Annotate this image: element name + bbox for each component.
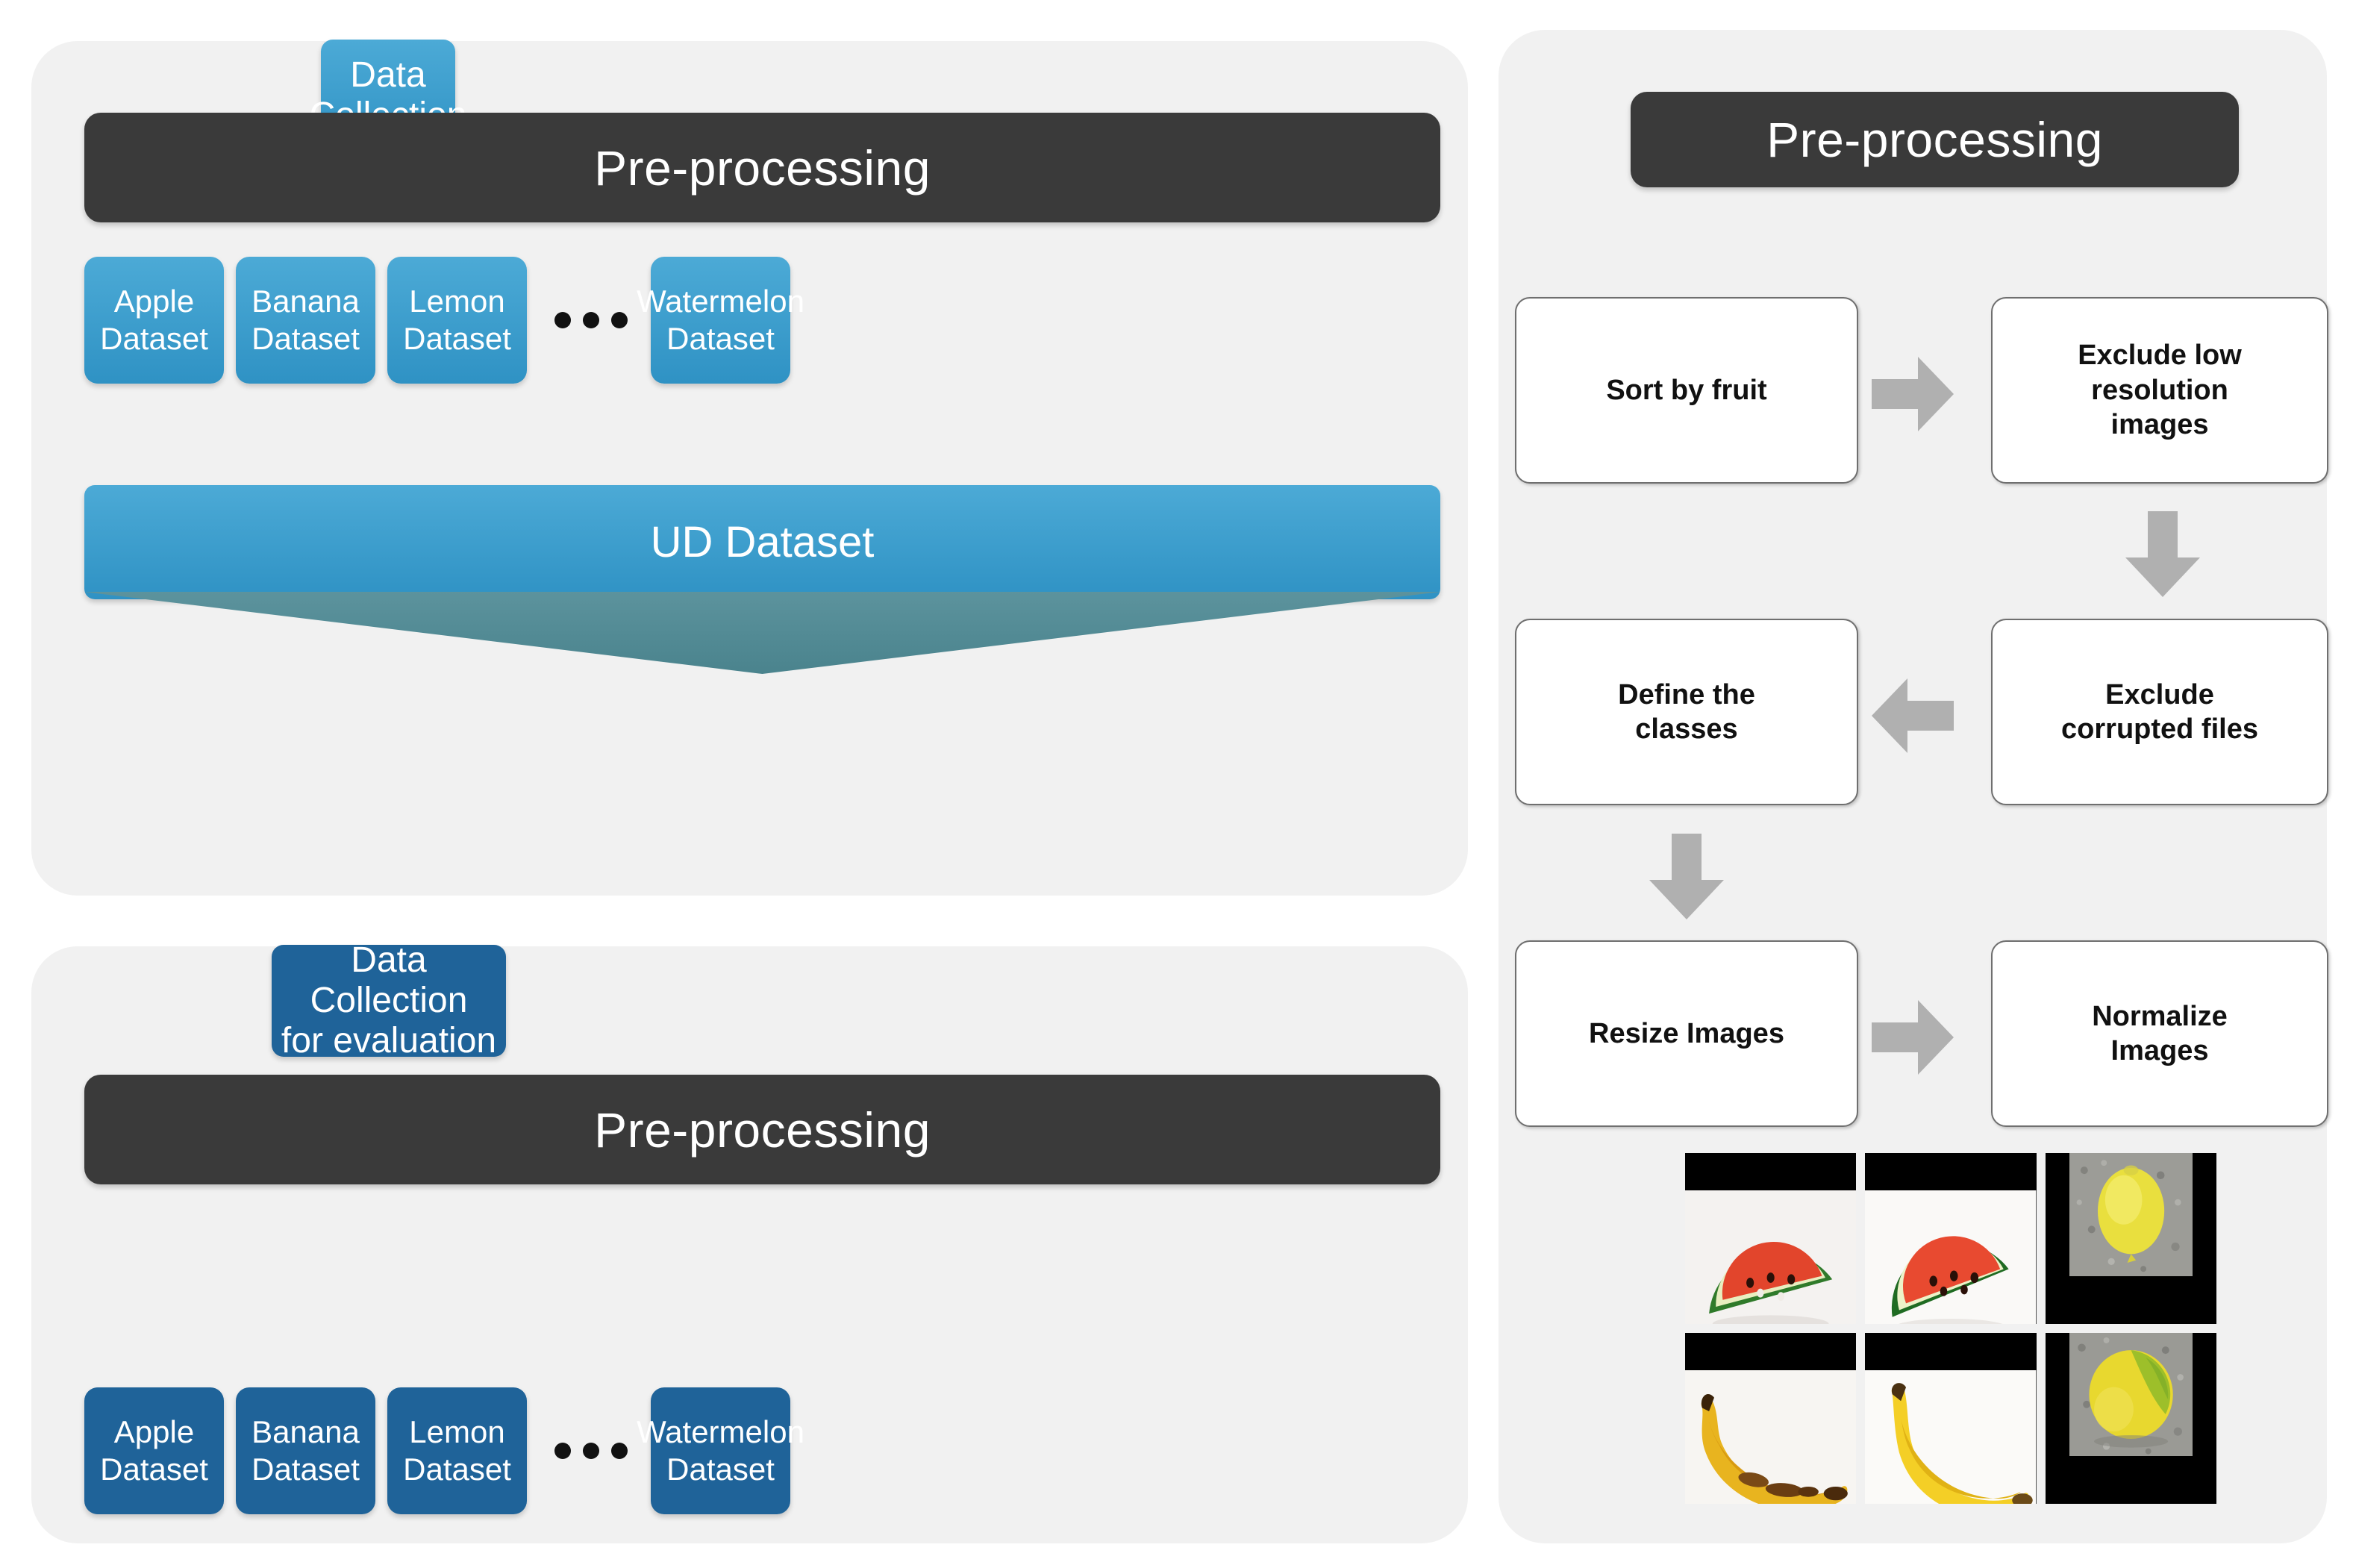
step-label: Sort by fruit [1606, 373, 1766, 407]
arrow-left-corrupted-to-define-classes [1872, 678, 1954, 753]
sample-image-watermelon-slice-1 [1685, 1153, 1856, 1324]
dataset-chip-label: Lemon Dataset [403, 283, 511, 357]
step-exclude-low-resolution-images[interactable]: Exclude low resolution images [1991, 297, 2328, 484]
data-collection-for-evaluation-label: Data Collection for evaluation [272, 940, 506, 1061]
ellipsis-dot [554, 312, 571, 328]
arrow-down-define-classes-to-resize [1649, 834, 1724, 919]
merge-funnel-arrow [84, 592, 1440, 674]
step-label: Exclude low resolution images [2078, 338, 2242, 442]
sample-image-banana-2 [1865, 1333, 2036, 1504]
step-define-the-classes[interactable]: Define the classes [1515, 619, 1858, 805]
data-collection-for-evaluation-box[interactable]: Data Collection for evaluation [272, 945, 506, 1057]
sample-images-grid [1685, 1153, 2216, 1504]
dataset-chip-label: Banana Dataset [251, 1414, 360, 1487]
training-data-pipeline-panel: Data Collection Pre-processing Apple Dat… [31, 41, 1468, 896]
eval-dataset-chip-watermelon[interactable]: Watermelon Dataset [651, 1387, 790, 1514]
arrow-right-sort-to-exclude-low-res [1872, 357, 1954, 431]
step-label: Normalize Images [2092, 999, 2228, 1069]
dataset-chip-label: Watermelon Dataset [637, 1414, 804, 1487]
dataset-ellipsis-training [539, 257, 643, 384]
sample-image-watermelon-slice-2 [1865, 1153, 2036, 1324]
preprocessing-label: Pre-processing [594, 140, 931, 196]
preprocessing-bar-evaluation[interactable]: Pre-processing [84, 1075, 1440, 1184]
ellipsis-dot [611, 1443, 628, 1459]
step-label: Exclude corrupted files [2061, 678, 2258, 747]
step-label: Resize Images [1589, 1016, 1784, 1051]
dataset-chip-lemon[interactable]: Lemon Dataset [387, 257, 527, 384]
ellipsis-dot [554, 1443, 571, 1459]
dataset-ellipsis-evaluation [539, 1387, 643, 1514]
dataset-chip-label: Apple Dataset [100, 1414, 208, 1487]
step-resize-images[interactable]: Resize Images [1515, 940, 1858, 1127]
sample-image-lemon-1 [2046, 1153, 2216, 1324]
preprocessing-header[interactable]: Pre-processing [1631, 92, 2239, 187]
evaluation-data-pipeline-panel: Data Collection for evaluation Pre-proce… [31, 946, 1468, 1543]
arrow-right-resize-to-normalize [1872, 1000, 1954, 1075]
eval-dataset-chip-apple[interactable]: Apple Dataset [84, 1387, 224, 1514]
step-label: Define the classes [1618, 678, 1755, 747]
ud-dataset-box[interactable]: UD Dataset [84, 485, 1440, 599]
sample-image-banana-1 [1685, 1333, 1856, 1504]
preprocessing-header-label: Pre-processing [1766, 111, 2103, 168]
dataset-chip-label: Banana Dataset [251, 283, 360, 357]
dataset-chip-label: Watermelon Dataset [637, 283, 804, 357]
sample-image-lemon-2 [2046, 1333, 2216, 1504]
eval-dataset-chip-lemon[interactable]: Lemon Dataset [387, 1387, 527, 1514]
dataset-chip-apple[interactable]: Apple Dataset [84, 257, 224, 384]
ellipsis-dot [583, 1443, 599, 1459]
eval-dataset-chip-banana[interactable]: Banana Dataset [236, 1387, 375, 1514]
step-sort-by-fruit[interactable]: Sort by fruit [1515, 297, 1858, 484]
ud-dataset-label: UD Dataset [651, 517, 875, 567]
dataset-chip-watermelon[interactable]: Watermelon Dataset [651, 257, 790, 384]
arrow-down-exclude-low-res-to-corrupted [2125, 511, 2200, 597]
dataset-chip-label: Lemon Dataset [403, 1414, 511, 1487]
preprocessing-bar-training[interactable]: Pre-processing [84, 113, 1440, 222]
dataset-chip-banana[interactable]: Banana Dataset [236, 257, 375, 384]
ellipsis-dot [611, 312, 628, 328]
preprocessing-label: Pre-processing [594, 1102, 931, 1158]
dataset-chip-label: Apple Dataset [100, 283, 208, 357]
step-normalize-images[interactable]: Normalize Images [1991, 940, 2328, 1127]
ellipsis-dot [583, 312, 599, 328]
step-exclude-corrupted-files[interactable]: Exclude corrupted files [1991, 619, 2328, 805]
